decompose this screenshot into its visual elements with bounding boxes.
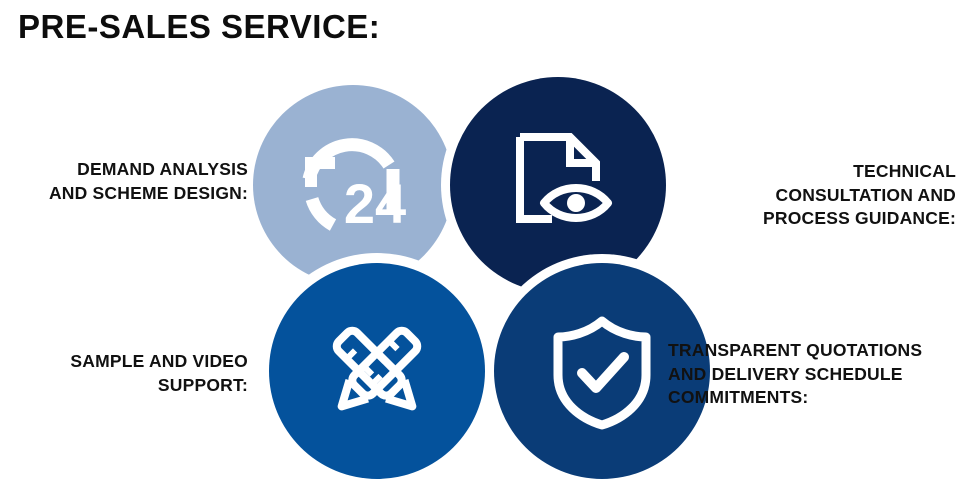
label-technical-consultation: TECHNICAL CONSULTATION AND PROCESS GUIDA…	[726, 160, 956, 231]
label-sample-video-support: SAMPLE AND VIDEO SUPPORT:	[0, 350, 248, 397]
circle-sample-video[interactable]	[259, 253, 495, 489]
circle-sample-video-shape[interactable]	[269, 263, 485, 479]
label-demand-analysis: DEMAND ANALYSIS AND SCHEME DESIGN:	[0, 158, 248, 205]
eye-pupil	[567, 194, 585, 212]
24-hours-label: 24	[344, 172, 406, 235]
label-transparent-quotations: TRANSPARENT QUOTATIONS AND DELIVERY SCHE…	[668, 339, 960, 410]
circles-diagram: 24	[0, 0, 960, 498]
infographic-page: PRE-SALES SERVICE: 24	[0, 0, 960, 498]
